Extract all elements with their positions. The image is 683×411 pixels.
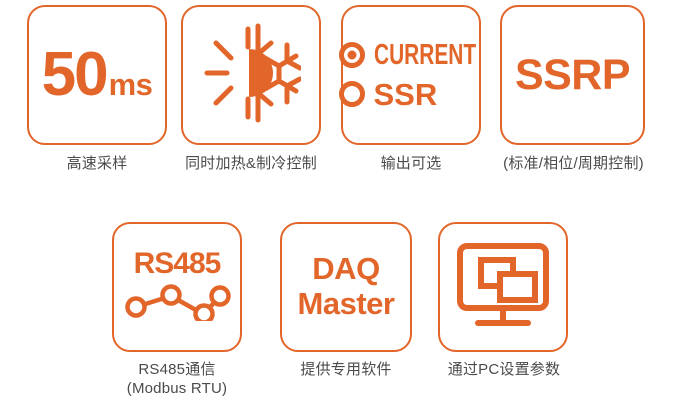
radio-option-ssr-label: SSR: [374, 79, 438, 110]
rs485-text: RS485: [134, 249, 221, 279]
feature-card-speed: 50 ms: [27, 5, 167, 145]
feature-card-pc: [438, 222, 568, 352]
feature-label-rs485: RS485通信 (Modbus RTU): [92, 360, 262, 398]
daq-master-icon: DAQ Master: [298, 252, 395, 321]
feature-card-output: CURRENT SSR: [341, 5, 481, 145]
feature-card-ssrp: SSRP: [500, 5, 645, 145]
radio-option-current[interactable]: CURRENT: [339, 41, 484, 70]
radio-unselected-icon[interactable]: [339, 81, 365, 107]
feature-label-daq: 提供专用软件: [266, 360, 426, 379]
feature-card-heatcool: [181, 5, 321, 145]
feature-label-heatcool: 同时加热&制冷控制: [161, 154, 341, 173]
speed-50ms-icon: 50 ms: [42, 44, 153, 106]
feature-card-rs485: RS485: [112, 222, 242, 352]
ssrp-text-icon: SSRP: [515, 54, 630, 97]
radio-option-current-label: CURRENT: [374, 41, 453, 70]
speed-value: 50: [42, 44, 107, 106]
feature-label-output: 输出可选: [331, 154, 491, 173]
radio-selected-icon[interactable]: [339, 42, 365, 68]
rs485-network-icon: RS485: [123, 249, 231, 326]
monitor-windows-icon: [455, 241, 551, 334]
network-nodes-icon: [123, 281, 231, 326]
radio-options-icon: CURRENT SSR: [339, 41, 484, 110]
speed-unit: ms: [109, 69, 153, 100]
feature-label-pc: 通过PC设置参数: [423, 360, 585, 379]
feature-label-speed: 高速采样: [17, 154, 177, 173]
sun-snowflake-icon: [201, 21, 301, 130]
feature-card-daq: DAQ Master: [280, 222, 412, 352]
feature-label-ssrp: (标准/相位/周期控制): [486, 154, 661, 173]
radio-option-ssr[interactable]: SSR: [339, 79, 484, 110]
